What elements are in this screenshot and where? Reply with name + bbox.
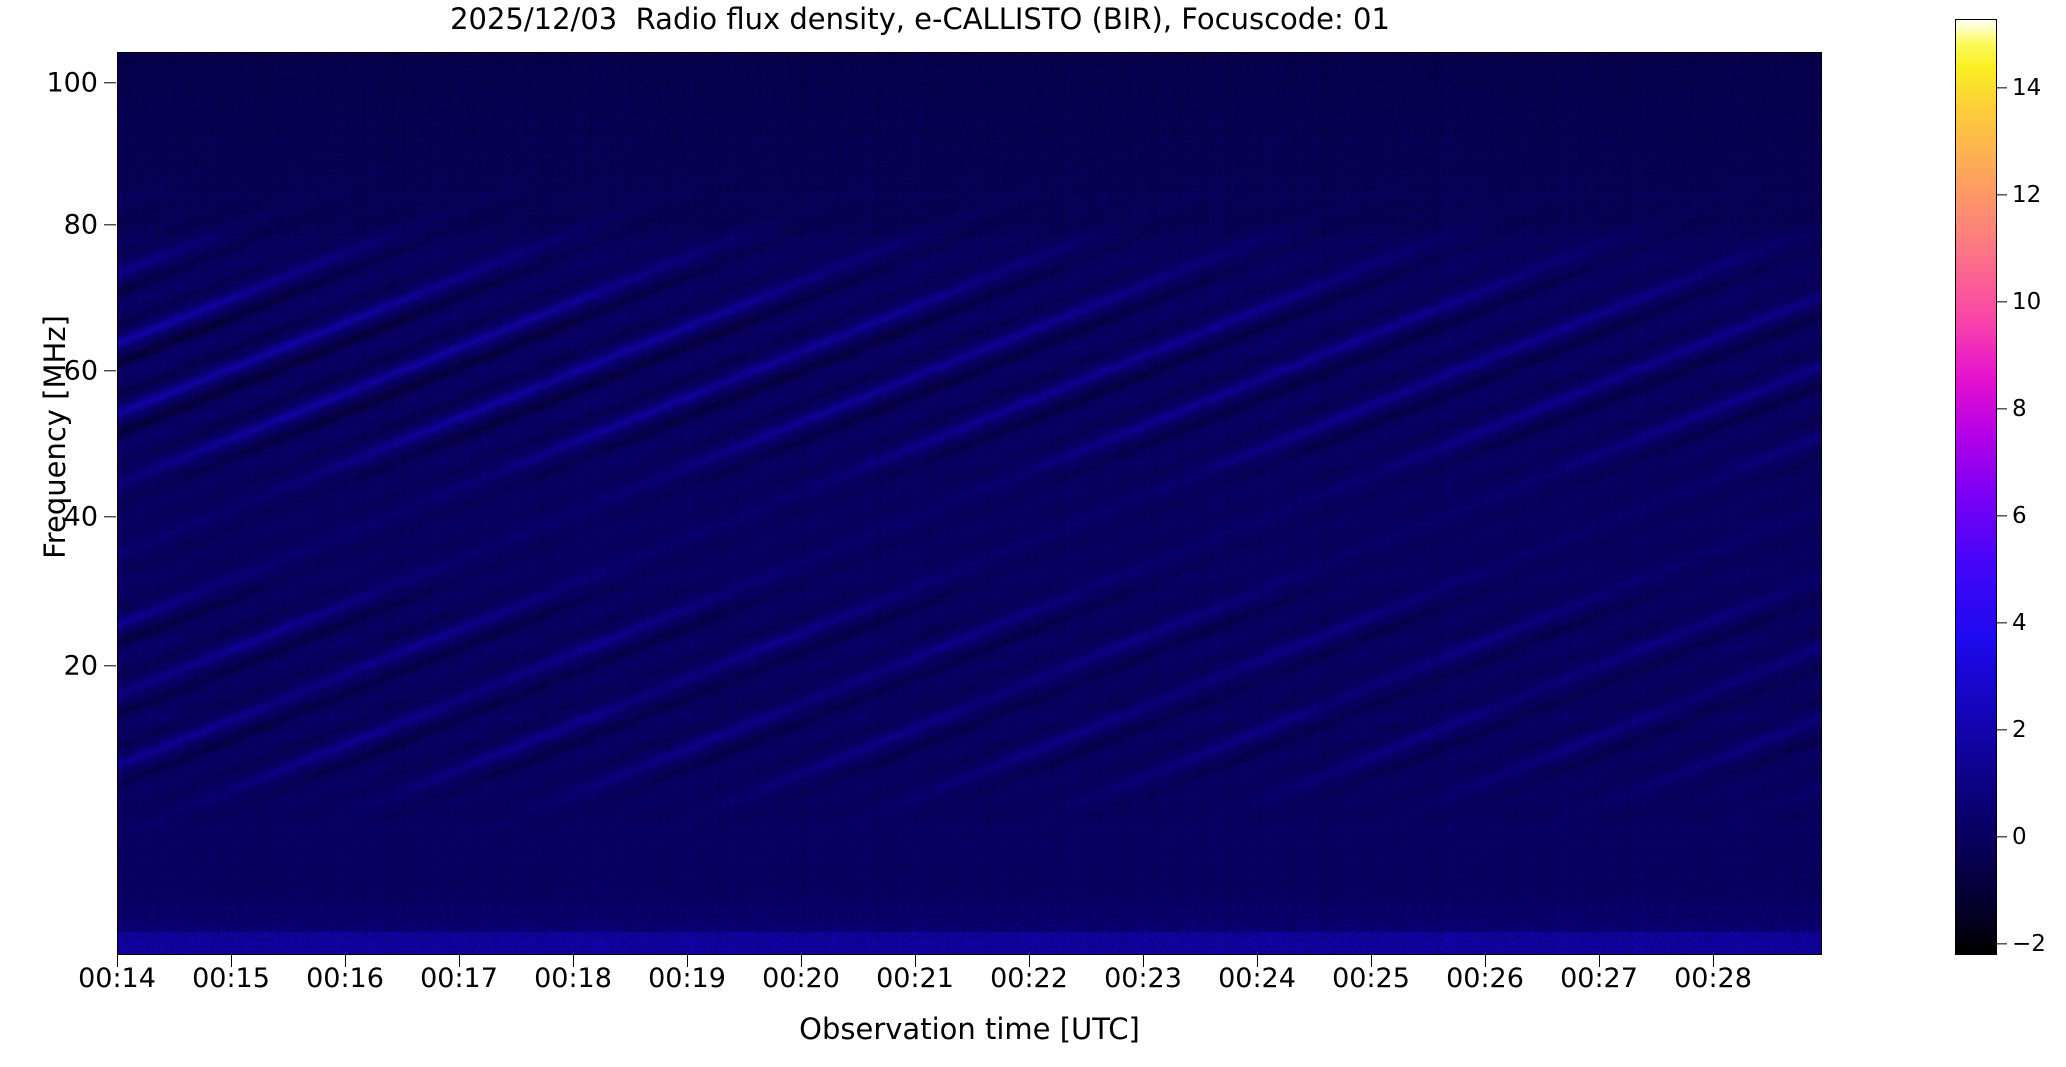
x-tick-mark: [687, 955, 688, 967]
x-tick-mark: [1143, 955, 1144, 967]
colorbar-tick-label: 14: [2012, 75, 2041, 101]
colorbar[interactable]: [1955, 19, 1997, 955]
y-tick-mark: [104, 665, 116, 666]
colorbar-tick-mark: [1997, 622, 2007, 623]
y-tick-mark: [104, 370, 116, 371]
x-tick-mark: [459, 955, 460, 967]
colorbar-gradient: [1956, 20, 1996, 954]
x-tick-label: 00:28: [1633, 963, 1793, 994]
x-tick-mark: [573, 955, 574, 967]
page-title: 2025/12/03 Radio flux density, e-CALLIST…: [0, 2, 1840, 36]
y-tick-label: 20: [8, 651, 98, 682]
colorbar-tick-label: 4: [2012, 610, 2027, 636]
x-tick-mark: [1257, 955, 1258, 967]
colorbar-tick-mark: [1997, 729, 2007, 730]
y-tick-label: 40: [8, 502, 98, 533]
x-tick-mark: [801, 955, 802, 967]
x-tick-mark: [1029, 955, 1030, 967]
spectrogram-plot-area[interactable]: [117, 52, 1822, 955]
x-tick-mark: [1599, 955, 1600, 967]
x-tick-mark: [117, 955, 118, 967]
colorbar-tick-mark: [1997, 301, 2007, 302]
y-tick-mark: [104, 224, 116, 225]
x-tick-mark: [231, 955, 232, 967]
y-tick-mark: [104, 516, 116, 517]
colorbar-tick-label: −2: [2012, 931, 2046, 957]
colorbar-tick-mark: [1997, 515, 2007, 516]
y-tick-mark: [104, 82, 116, 83]
x-tick-mark: [1371, 955, 1372, 967]
y-tick-label: 100: [8, 68, 98, 99]
y-axis-label: Frequency [MHz]: [38, 0, 72, 877]
colorbar-tick-label: 12: [2012, 182, 2041, 208]
y-tick-label: 60: [8, 356, 98, 387]
y-tick-label: 80: [8, 210, 98, 241]
colorbar-tick-label: 0: [2012, 824, 2027, 850]
colorbar-tick-label: 6: [2012, 503, 2027, 529]
colorbar-tick-label: 10: [2012, 289, 2041, 315]
x-tick-mark: [915, 955, 916, 967]
colorbar-tick-label: 8: [2012, 396, 2027, 422]
spectrogram-figure: 2025/12/03 Radio flux density, e-CALLIST…: [0, 0, 2066, 1067]
colorbar-tick-mark: [1997, 87, 2007, 88]
x-tick-mark: [345, 955, 346, 967]
x-axis-label: Observation time [UTC]: [117, 1012, 1822, 1046]
colorbar-tick-mark: [1997, 194, 2007, 195]
colorbar-tick-mark: [1997, 408, 2007, 409]
colorbar-tick-mark: [1997, 943, 2007, 944]
spectrogram-heatmap: [118, 53, 1821, 954]
colorbar-tick-label: 2: [2012, 717, 2027, 743]
x-tick-mark: [1485, 955, 1486, 967]
colorbar-tick-mark: [1997, 836, 2007, 837]
x-tick-mark: [1713, 955, 1714, 967]
